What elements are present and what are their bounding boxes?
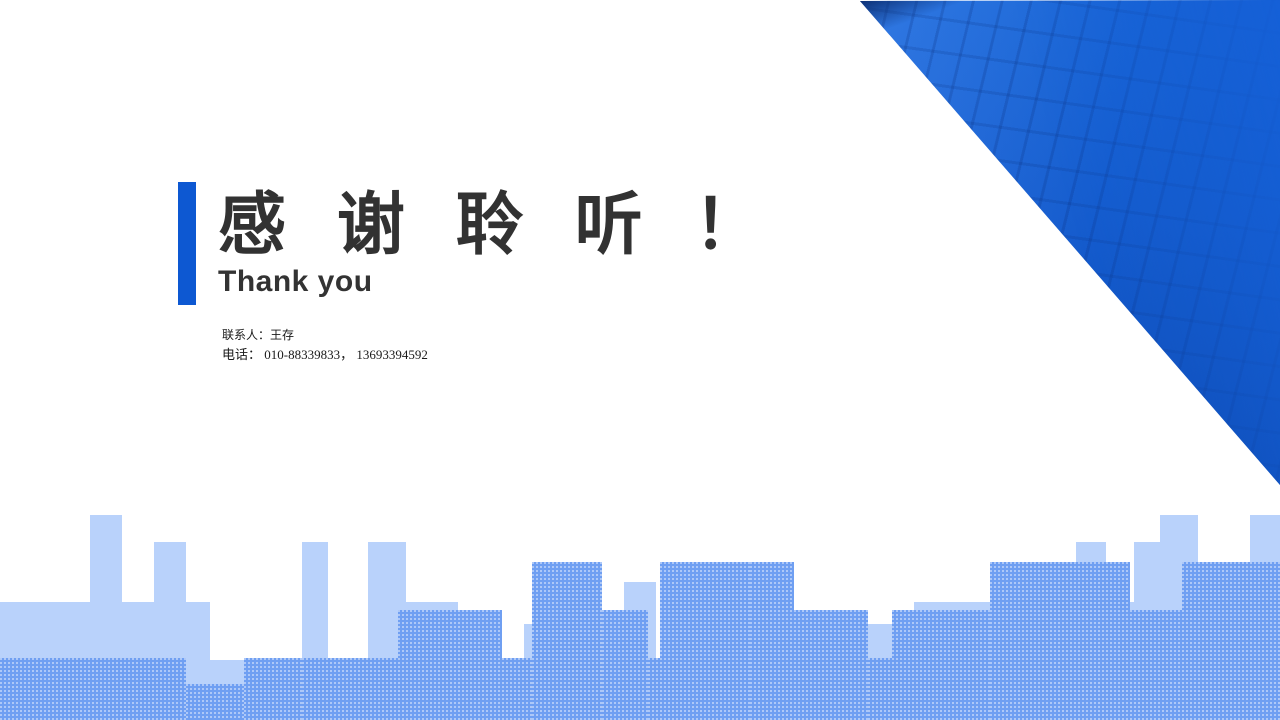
skyline-building-front: [1086, 562, 1130, 720]
page-title-en: Thank you: [218, 264, 778, 300]
skyline-building-front: [648, 658, 660, 720]
headline-text-group: 感 谢 聆 听 ！ Thank you: [218, 182, 778, 300]
skyline-building-front: [502, 658, 532, 720]
accent-bar: [178, 182, 196, 305]
skyline-building-front: [868, 658, 892, 720]
skyline-building-front: [302, 658, 398, 720]
skyline-building-front: [750, 562, 794, 720]
headline-block: 感 谢 聆 听 ！ Thank you: [178, 182, 778, 305]
skyline-building-front: [1230, 562, 1280, 720]
skyline-building-front: [186, 684, 244, 720]
contact-person-line: 联系人：王存: [222, 326, 428, 345]
skyline-front-layer: [0, 500, 1280, 720]
skyline-building-front: [794, 610, 868, 720]
facade-shading-overlay: [860, 0, 1280, 500]
page-title-cn: 感 谢 聆 听 ！: [218, 182, 778, 268]
slide-root: 感 谢 聆 听 ！ Thank you 联系人：王存 电话： 010-88339…: [0, 0, 1280, 720]
blue-glass-building-graphic: [860, 0, 1280, 500]
skyline-building-front: [990, 562, 1054, 720]
skyline-building-front: [1130, 610, 1182, 720]
skyline-building-front: [244, 658, 302, 720]
skyline-building-front: [398, 610, 502, 720]
contact-phone-line: 电话： 010-88339833， 13693394592: [222, 345, 428, 364]
skyline-building-front: [0, 658, 186, 720]
skyline-building-front: [532, 562, 602, 720]
city-skyline: [0, 500, 1280, 720]
building-facade: [860, 0, 1280, 500]
contact-block: 联系人：王存 电话： 010-88339833， 13693394592: [222, 326, 428, 364]
skyline-building-front: [892, 610, 990, 720]
skyline-building-front: [660, 562, 750, 720]
skyline-building-front: [602, 610, 648, 720]
